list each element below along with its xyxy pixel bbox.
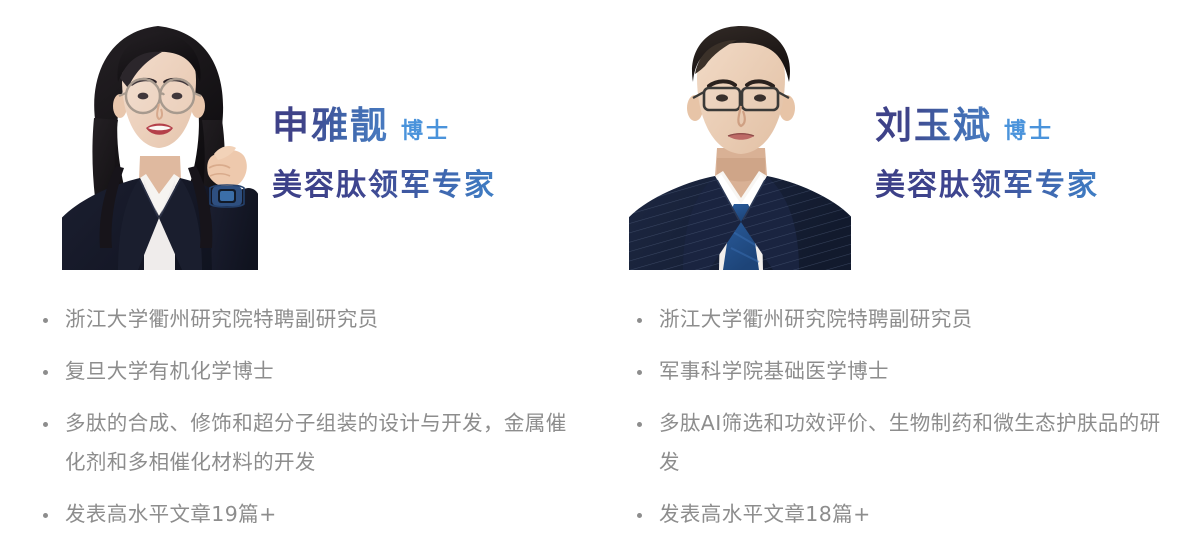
list-item: 发表高水平文章19篇+ — [38, 495, 568, 534]
expert-name: 刘玉斌 — [875, 104, 992, 148]
name-line: 刘玉斌 博士 — [875, 104, 1185, 150]
expert-header: 申雅靓 博士 美容肽领军专家 — [0, 0, 593, 278]
list-item: 军事科学院基础医学博士 — [632, 352, 1162, 391]
expert-degree: 博士 — [1004, 116, 1054, 146]
expert-role: 美容肽领军专家 — [272, 166, 582, 206]
expert-identity: 申雅靓 博士 美容肽领军专家 — [272, 104, 582, 206]
expert-header: 刘玉斌 博士 美容肽领军专家 — [593, 0, 1186, 278]
expert-role: 美容肽领军专家 — [875, 166, 1185, 206]
male-researcher-portrait — [629, 8, 851, 270]
expert-identity: 刘玉斌 博士 美容肽领军专家 — [875, 104, 1185, 206]
list-item: 浙江大学衢州研究院特聘副研究员 — [632, 300, 1162, 339]
list-item: 多肽的合成、修饰和超分子组装的设计与开发，金属催化剂和多相催化材料的开发 — [38, 404, 568, 482]
expert-card-shen-yaliang: 申雅靓 博士 美容肽领军专家 浙江大学衢州研究院特聘副研究员 复旦大学有机化学博… — [0, 0, 593, 547]
expert-credentials-list: 浙江大学衢州研究院特聘副研究员 复旦大学有机化学博士 多肽的合成、修饰和超分子组… — [38, 300, 568, 534]
expert-degree: 博士 — [401, 116, 451, 146]
expert-card-liu-yubin: 刘玉斌 博士 美容肽领军专家 浙江大学衢州研究院特聘副研究员 军事科学院基础医学… — [593, 0, 1186, 547]
expert-credentials-list: 浙江大学衢州研究院特聘副研究员 军事科学院基础医学博士 多肽AI筛选和功效评价、… — [632, 300, 1162, 534]
name-line: 申雅靓 博士 — [272, 104, 582, 150]
expert-name: 申雅靓 — [272, 104, 389, 148]
list-item: 浙江大学衢州研究院特聘副研究员 — [38, 300, 568, 339]
list-item: 复旦大学有机化学博士 — [38, 352, 568, 391]
list-item: 发表高水平文章18篇+ — [632, 495, 1162, 534]
experts-panel: 申雅靓 博士 美容肽领军专家 浙江大学衢州研究院特聘副研究员 复旦大学有机化学博… — [0, 0, 1187, 547]
list-item: 多肽AI筛选和功效评价、生物制药和微生态护肤品的研发 — [632, 404, 1162, 482]
female-researcher-portrait — [62, 8, 258, 270]
